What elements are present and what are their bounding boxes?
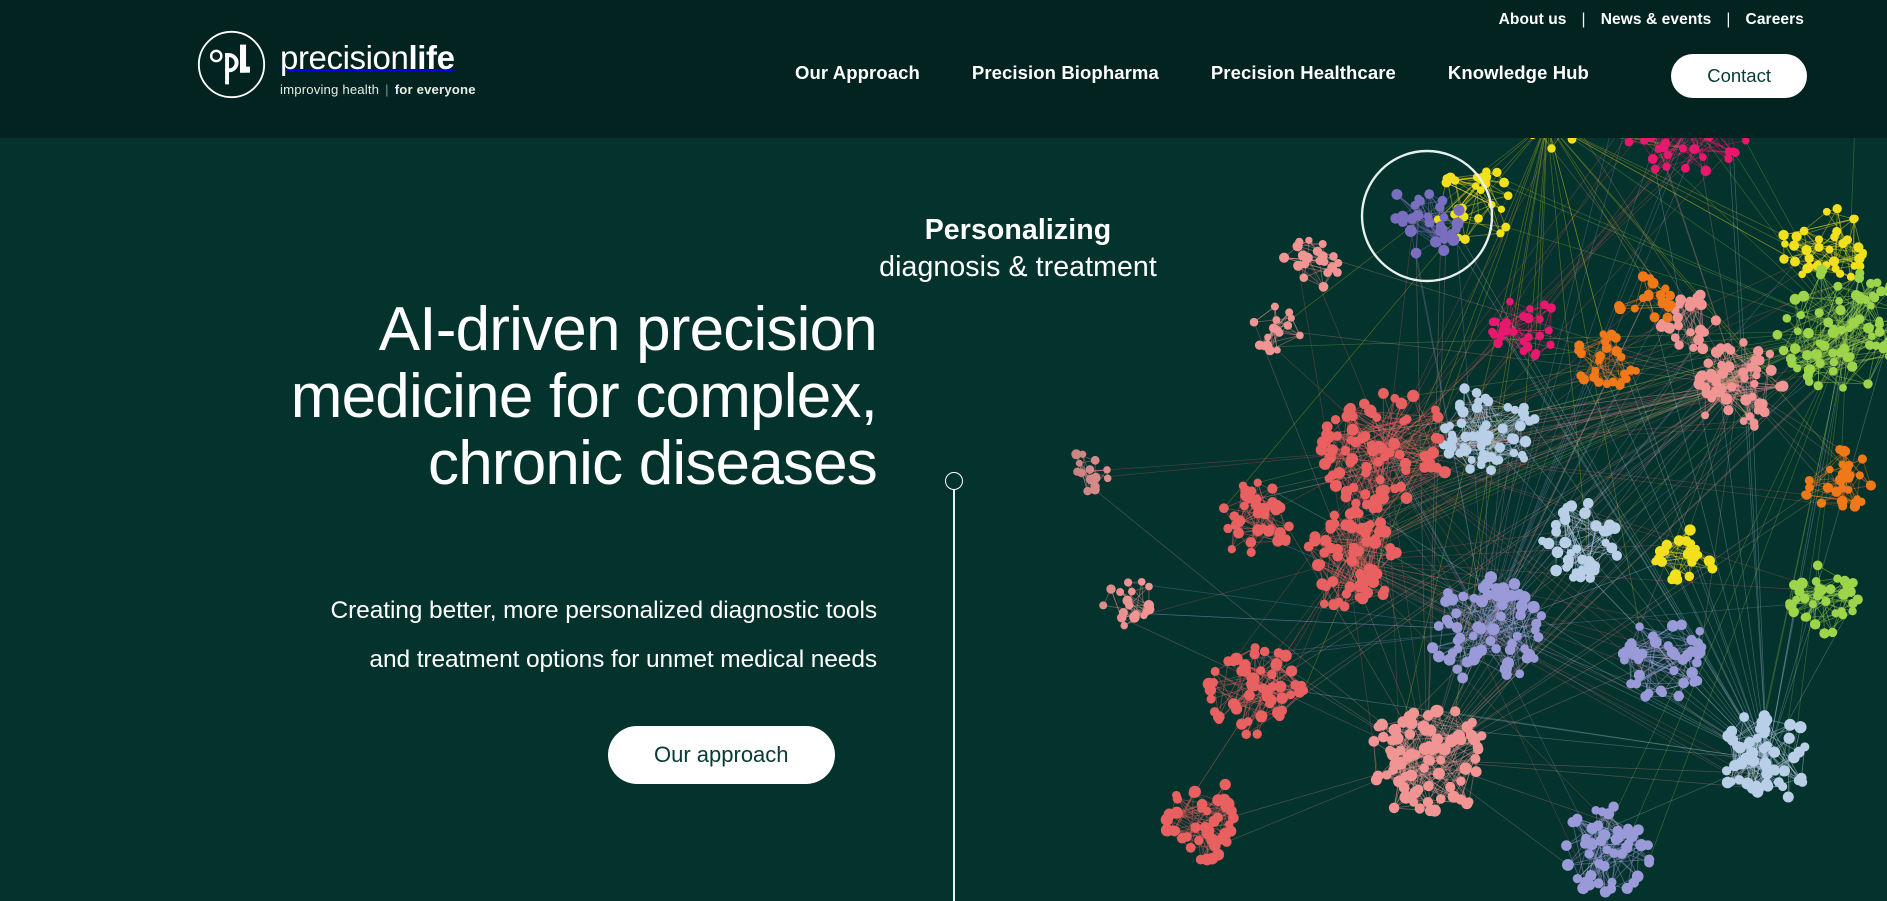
logo-wordmark: precisionlife xyxy=(280,39,455,76)
logo-tagline-separator: | xyxy=(385,82,389,97)
brand-logo-link[interactable]: precisionlife improving health | for eve… xyxy=(196,32,476,100)
logo-wordmark-precision: precision xyxy=(280,39,408,76)
logo-tagline-for-everyone: for everyone xyxy=(395,82,476,97)
logo-tagline: improving health | for everyone xyxy=(280,82,476,97)
page-root: About us | News & events | Careers preci… xyxy=(0,0,1887,901)
utility-link-news-and-events[interactable]: News & events xyxy=(1595,9,1718,31)
hero-heading: AI-driven precision medicine for complex… xyxy=(150,297,877,498)
scroll-down-line-icon[interactable] xyxy=(943,472,965,901)
nav-item-precision-biopharma[interactable]: Precision Biopharma xyxy=(972,62,1159,84)
utility-separator-2: | xyxy=(1717,11,1739,29)
nav-item-our-approach[interactable]: Our Approach xyxy=(795,62,920,84)
scroll-indicator-line xyxy=(953,490,955,901)
pl-monogram-circle-icon xyxy=(196,29,267,100)
utility-link-about-us[interactable]: About us xyxy=(1493,9,1573,31)
hero-kicker-personalizing: Personalizing xyxy=(838,214,1198,248)
utility-navigation: About us | News & events | Careers xyxy=(1493,9,1810,31)
hero-subheading-line-2: and treatment options for unmet medical … xyxy=(150,635,877,684)
our-approach-button[interactable]: Our approach xyxy=(608,726,835,784)
utility-link-careers[interactable]: Careers xyxy=(1740,9,1810,31)
logo-wordmark-life: life xyxy=(408,39,454,76)
contact-button[interactable]: Contact xyxy=(1671,54,1807,98)
hero-kicker-diagnosis-treatment: diagnosis & treatment xyxy=(838,251,1198,285)
logo-text-block: precisionlife improving health | for eve… xyxy=(280,32,476,97)
site-header: About us | News & events | Careers preci… xyxy=(0,0,1887,138)
hero-kicker: Personalizing diagnosis & treatment xyxy=(838,214,1198,284)
utility-separator-1: | xyxy=(1573,11,1595,29)
logo-tagline-improving-health: improving health xyxy=(280,82,379,97)
main-navigation: Our Approach Precision Biopharma Precisi… xyxy=(795,62,1589,84)
nav-item-precision-healthcare[interactable]: Precision Healthcare xyxy=(1211,62,1396,84)
hero-subheading-line-1: Creating better, more personalized diagn… xyxy=(150,586,877,635)
scroll-indicator-dot xyxy=(945,472,963,490)
hero-subheading: Creating better, more personalized diagn… xyxy=(150,586,877,684)
nav-item-knowledge-hub[interactable]: Knowledge Hub xyxy=(1448,62,1589,84)
